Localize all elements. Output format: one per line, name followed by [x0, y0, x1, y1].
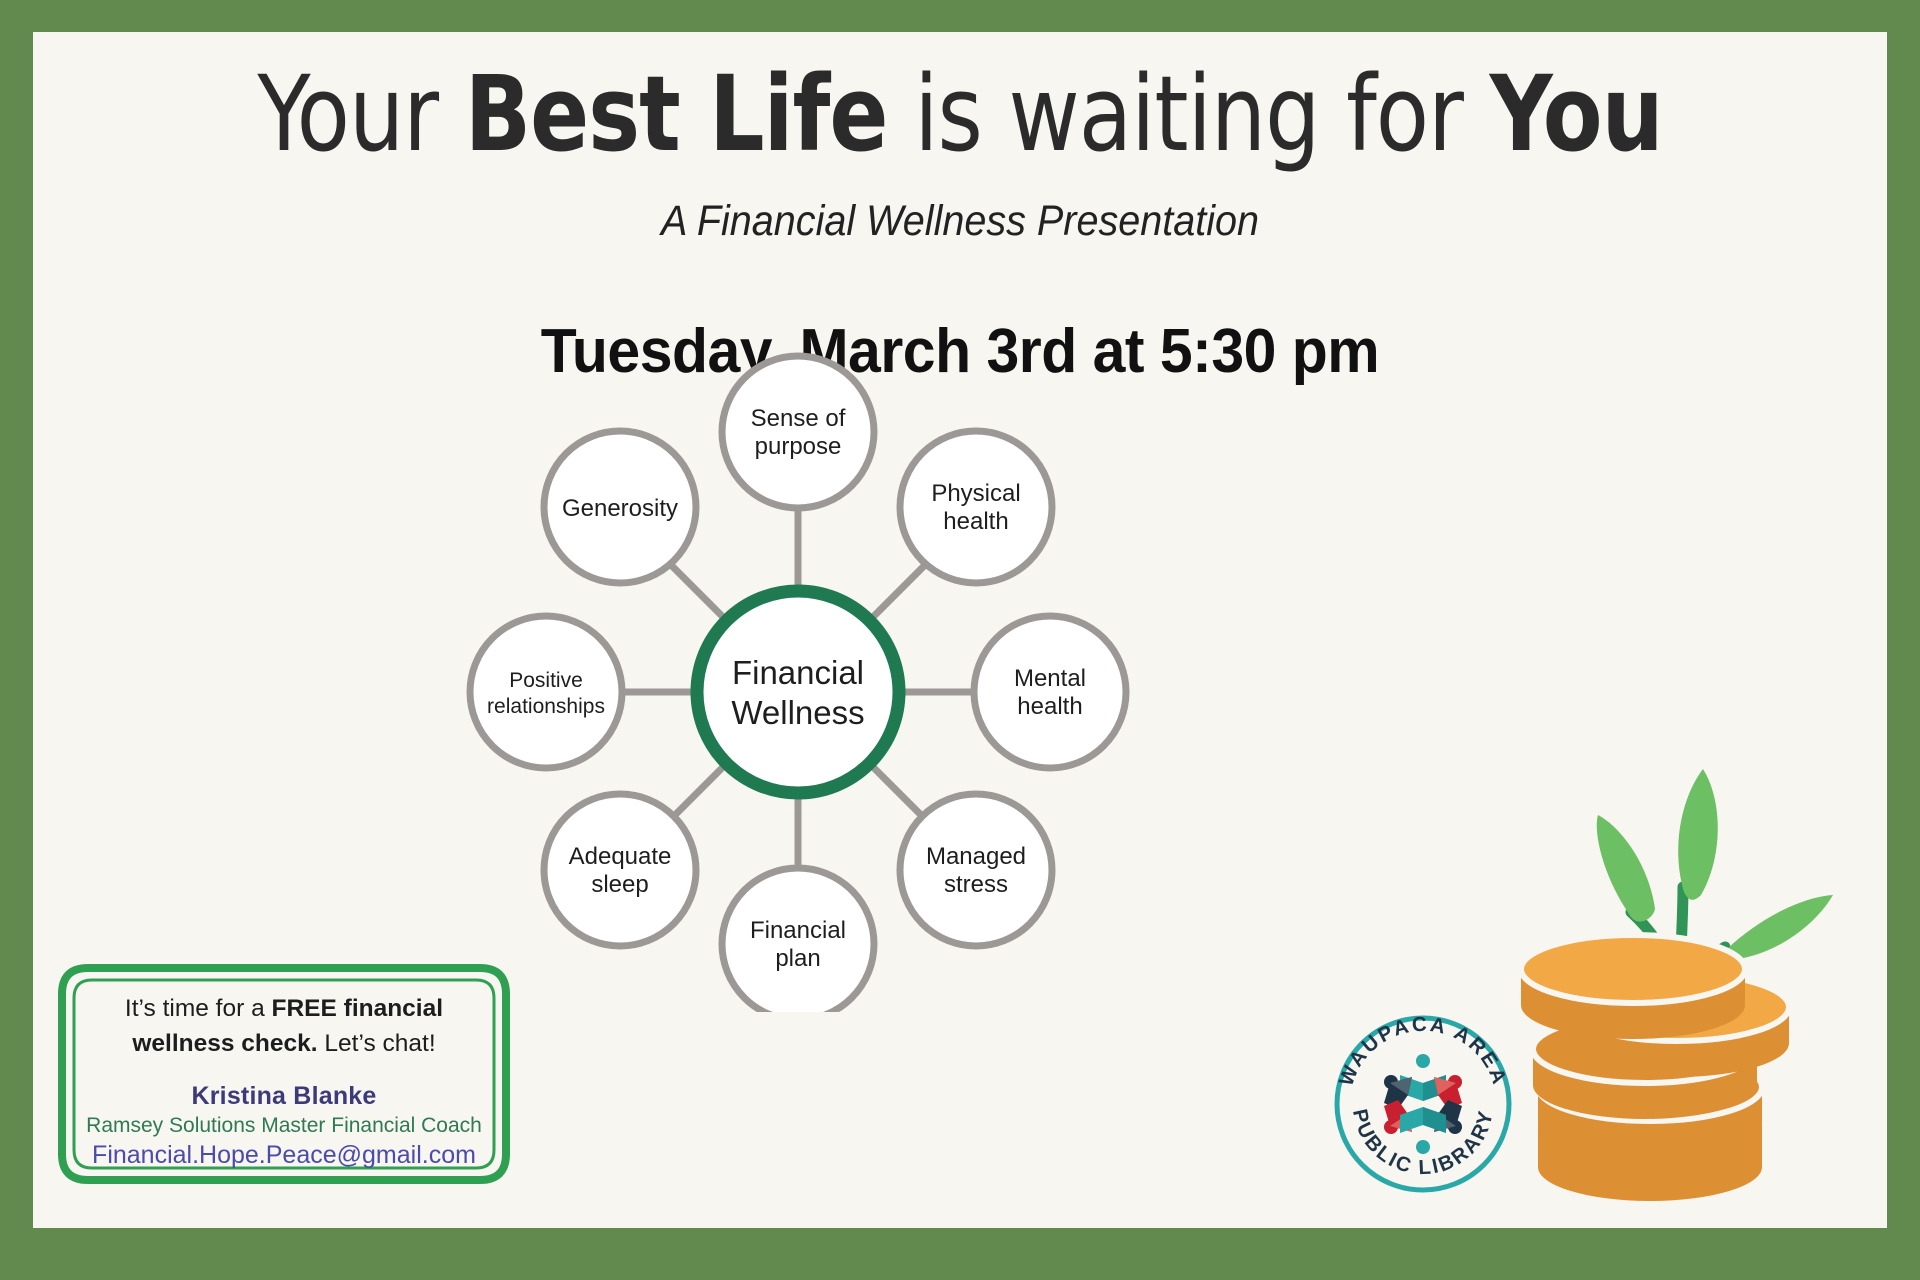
node-label-adequate-sleep-line2: sleep: [591, 871, 648, 898]
title-segment-best-life: Best Life: [465, 53, 888, 175]
node-managed-stress[interactable]: Managed stress: [900, 794, 1052, 946]
node-label-financial-plan-line2: plan: [775, 945, 820, 972]
node-physical-health[interactable]: Physical health: [900, 431, 1052, 583]
title-segment-your: Your: [257, 53, 464, 175]
waupaca-area-public-library-logo: WAUPACA AREA PUBLIC LIBRARY: [1328, 1009, 1518, 1199]
node-label-positive-relationships-line2: relationships: [487, 695, 605, 718]
title-segment-is-waiting-for: is waiting for: [888, 53, 1490, 175]
node-label-managed-stress-line2: stress: [944, 871, 1008, 898]
node-label-generosity: Generosity: [562, 495, 678, 522]
contact-cta-before: It’s time for a: [125, 995, 272, 1022]
financial-wellness-diagram: Sense of purpose Physical health Mental …: [448, 332, 1148, 1012]
node-label-managed-stress-line1: Managed: [926, 843, 1026, 870]
node-label-financial-plan-line1: Financial: [750, 917, 846, 944]
node-label-mental-health-line1: Mental: [1014, 665, 1086, 692]
center-label-line1: Financial: [732, 654, 864, 691]
node-label-physical-health-line1: Physical: [931, 480, 1020, 507]
node-mental-health[interactable]: Mental health: [974, 616, 1126, 768]
contact-role: Ramsey Solutions Master Financial Coach: [80, 1114, 488, 1138]
coin-stack: [1521, 935, 1789, 1201]
plant-leaves: [1597, 769, 1833, 959]
node-sense-of-purpose[interactable]: Sense of purpose: [722, 356, 874, 508]
node-label-positive-relationships-line1: Positive: [509, 669, 583, 692]
title-segment-you: You: [1490, 53, 1663, 175]
coin-stack-with-plant-illustration: [1503, 757, 1887, 1217]
contact-cta-after: Let’s chat!: [318, 1030, 436, 1057]
node-positive-relationships[interactable]: Positive relationships: [470, 616, 622, 768]
page-title: Your Best Life is waiting for You: [98, 60, 1822, 169]
node-label-mental-health-line2: health: [1017, 693, 1082, 720]
poster-canvas: Your Best Life is waiting for You A Fina…: [33, 32, 1887, 1228]
node-label-sense-of-purpose-line2: purpose: [755, 433, 842, 460]
poster-frame: Your Best Life is waiting for You A Fina…: [0, 0, 1920, 1280]
page-subtitle: A Financial Wellness Presentation: [107, 197, 1813, 246]
node-label-adequate-sleep-line1: Adequate: [569, 843, 672, 870]
node-label-sense-of-purpose-line1: Sense of: [751, 405, 846, 432]
node-adequate-sleep[interactable]: Adequate sleep: [544, 794, 696, 946]
contact-email[interactable]: Financial.Hope.Peace@gmail.com: [80, 1141, 488, 1170]
center-label-line2: Wellness: [731, 694, 864, 731]
node-financial-wellness-center[interactable]: Financial Wellness: [697, 591, 899, 793]
node-financial-plan[interactable]: Financial plan: [722, 868, 874, 1012]
node-generosity[interactable]: Generosity: [544, 431, 696, 583]
contact-cta: It’s time for a FREE financial wellness …: [80, 992, 488, 1062]
node-label-physical-health-line2: health: [943, 508, 1008, 535]
contact-name: Kristina Blanke: [80, 1082, 488, 1111]
contact-card: It’s time for a FREE financial wellness …: [58, 964, 510, 1184]
